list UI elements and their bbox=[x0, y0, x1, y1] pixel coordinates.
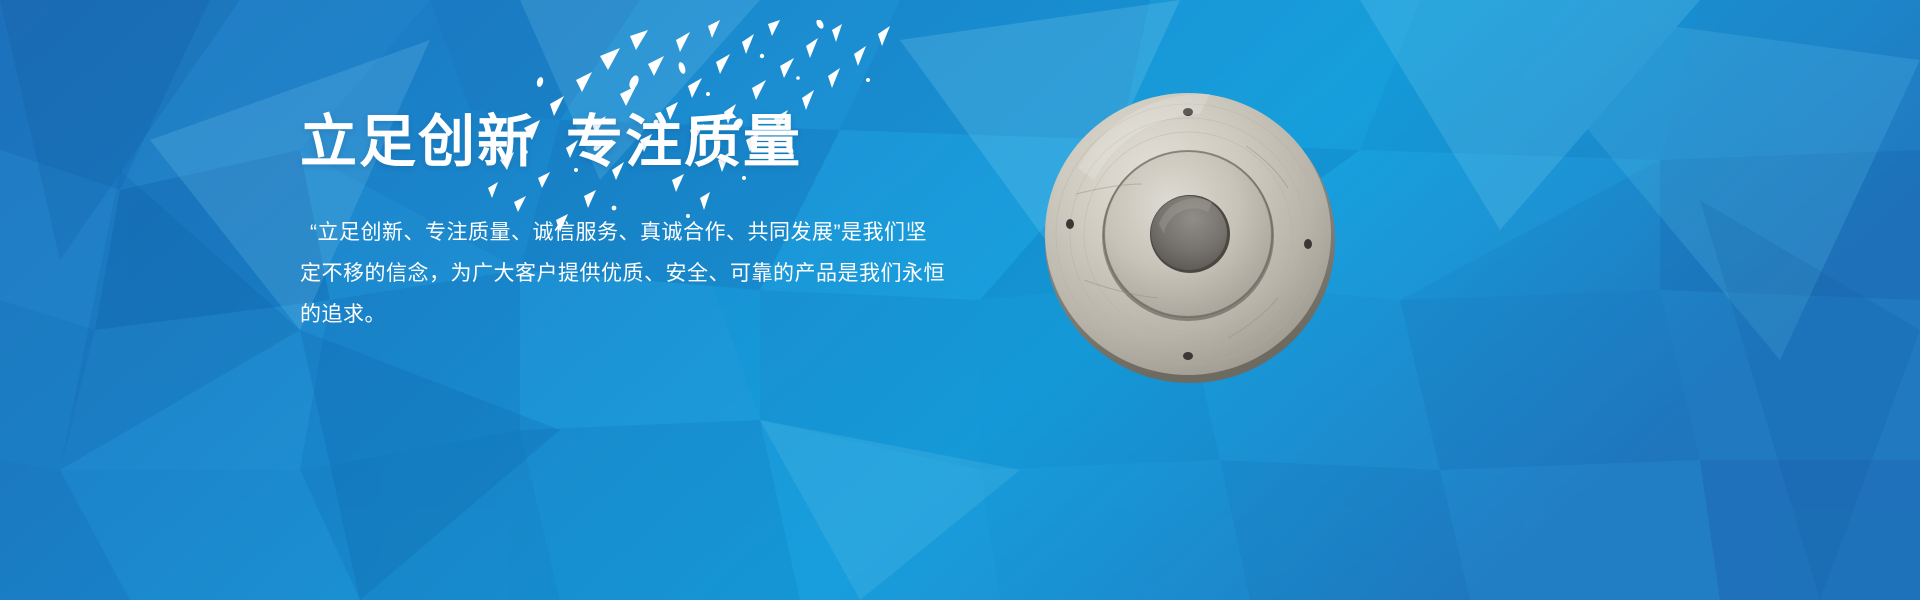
metal-flange-disc-icon bbox=[1040, 84, 1340, 384]
description-line-1: “立足创新、专注质量、诚信服务、真诚合作、共同发展”是我们坚 bbox=[300, 212, 960, 253]
headline-part-2: 专注质量 bbox=[566, 110, 802, 174]
banner-text-block: 立足创新专注质量 “立足创新、专注质量、诚信服务、真诚合作、共同发展”是我们坚 … bbox=[300, 108, 980, 335]
headline-part-1: 立足创新 bbox=[300, 110, 536, 174]
page-title: 立足创新专注质量 bbox=[300, 108, 980, 176]
hero-banner: 立足创新专注质量 “立足创新、专注质量、诚信服务、真诚合作、共同发展”是我们坚 … bbox=[0, 0, 1920, 600]
product-image bbox=[1040, 84, 1340, 384]
description-line-3: 的追求。 bbox=[300, 294, 960, 335]
description-line-2: 定不移的信念，为广大客户提供优质、安全、可靠的产品是我们永恒 bbox=[300, 253, 960, 294]
banner-description: “立足创新、专注质量、诚信服务、真诚合作、共同发展”是我们坚 定不移的信念，为广… bbox=[300, 212, 960, 335]
